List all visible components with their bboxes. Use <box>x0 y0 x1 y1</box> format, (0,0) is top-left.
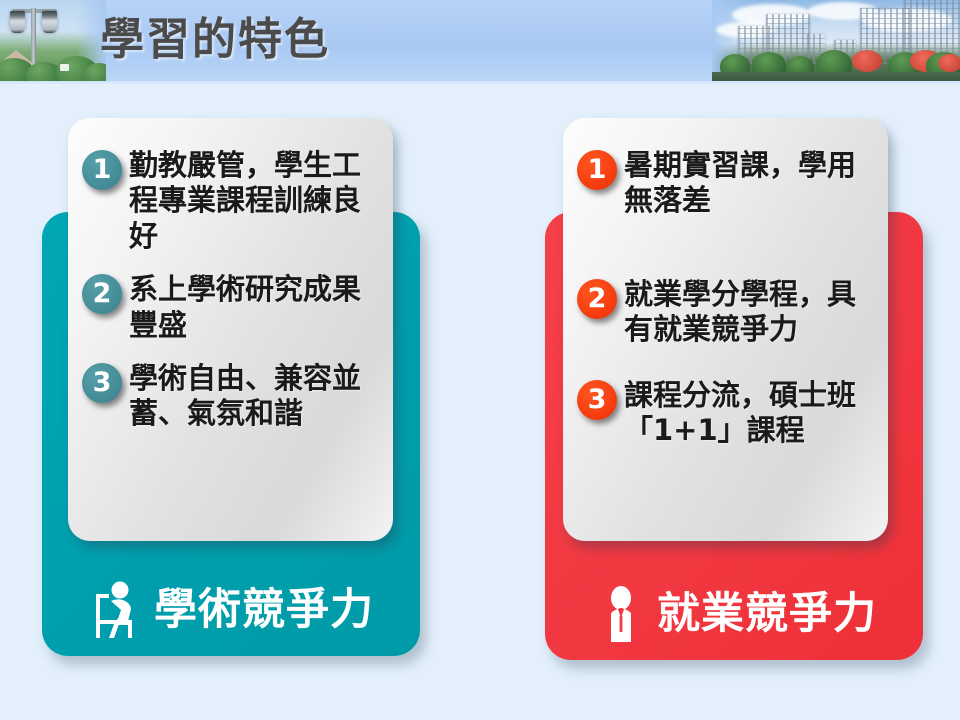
campus-buildings-photo <box>712 0 960 82</box>
panel-footer-label: 學術競爭力 <box>154 587 374 634</box>
sign-shape <box>60 64 69 71</box>
list-item: 3 學術自由、兼容並蓄、氣氛和諧 <box>82 361 377 432</box>
bullet-text: 課程分流，碩士班「1+1」課程 <box>624 378 872 449</box>
flowering-tree-shape <box>852 50 882 72</box>
panel-footer-employment: 就業競爭力 <box>545 584 923 646</box>
banner-underline <box>0 81 960 86</box>
bullet-text: 勤教嚴管，學生工程專業課程訓練良好 <box>129 148 377 254</box>
academic-bullet-list: 1 勤教嚴管，學生工程專業課程訓練良好 2 系上學術研究成果豐盛 3 學術自由、… <box>82 148 377 432</box>
bullet-number-badge: 1 <box>577 150 617 190</box>
panel-footer-academic: 學術競爭力 <box>42 580 420 642</box>
employment-bullet-list: 1 暑期實習課，學用無落差 2 就業學分學程，具有就業競爭力 3 課程分流，碩士… <box>577 148 872 448</box>
employment-content-card: 1 暑期實習課，學用無落差 2 就業學分學程，具有就業競爭力 3 課程分流，碩士… <box>563 118 888 541</box>
flowering-tree-shape <box>938 54 960 72</box>
panel-footer-label: 就業競爭力 <box>657 591 877 638</box>
list-item: 3 課程分流，碩士班「1+1」課程 <box>577 378 872 449</box>
lamp-head-left <box>10 11 25 33</box>
person-at-desk-icon <box>88 580 148 642</box>
bullet-number-badge: 3 <box>577 380 617 420</box>
academic-content-card: 1 勤教嚴管，學生工程專業課程訓練良好 2 系上學術研究成果豐盛 3 學術自由、… <box>68 118 393 541</box>
bullet-number-badge: 2 <box>577 279 617 319</box>
street-lamp-photo <box>0 0 106 82</box>
list-item: 1 勤教嚴管，學生工程專業課程訓練良好 <box>82 148 377 254</box>
list-item: 1 暑期實習課，學用無落差 <box>577 148 872 219</box>
bullet-text: 就業學分學程，具有就業競爭力 <box>624 277 872 348</box>
bullet-number-badge: 1 <box>82 150 122 190</box>
person-in-suit-icon <box>591 584 651 646</box>
header-banner: 學習的特色 <box>0 0 960 86</box>
page-title: 學習的特色 <box>100 6 330 74</box>
bullet-text: 暑期實習課，學用無落差 <box>624 148 872 219</box>
lamp-head-right <box>42 11 57 33</box>
list-item: 2 系上學術研究成果豐盛 <box>82 272 377 343</box>
list-item: 2 就業學分學程，具有就業競爭力 <box>577 277 872 348</box>
bullet-number-badge: 2 <box>82 274 122 314</box>
bullet-text: 學術自由、兼容並蓄、氣氛和諧 <box>129 361 377 432</box>
bullet-number-badge: 3 <box>82 363 122 403</box>
bullet-text: 系上學術研究成果豐盛 <box>129 272 377 343</box>
